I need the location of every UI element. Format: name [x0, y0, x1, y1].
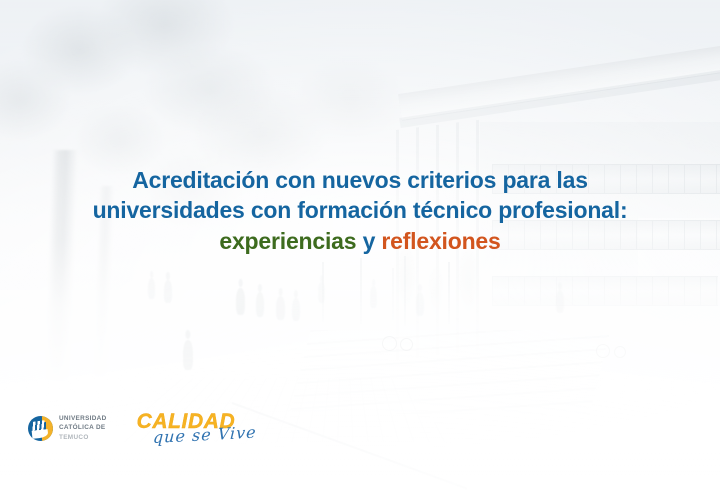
calidad-logo: CALIDAD que se Vive [137, 408, 257, 448]
footer-logo-group: Universidad Católica de Temuco CALIDAD q… [28, 408, 257, 448]
uct-emblem-icon [28, 416, 53, 441]
title-word-reflexiones: reflexiones [381, 228, 500, 254]
title-word-conjunction: y [363, 228, 376, 254]
uct-logo: Universidad Católica de Temuco [28, 414, 107, 441]
calidad-tagline: que se Vive [152, 423, 257, 448]
uct-wordmark-line-3: Temuco [59, 433, 107, 442]
title-line-1: Acreditación con nuevos criterios para l… [0, 166, 720, 196]
presentation-slide: Acreditación con nuevos criterios para l… [0, 0, 720, 500]
title-line-3: experiencias y reflexiones [0, 227, 720, 257]
title-word-experiencias: experiencias [219, 228, 356, 254]
uct-wordmark: Universidad Católica de Temuco [59, 414, 107, 441]
uct-swoosh [31, 429, 47, 438]
slide-title: Acreditación con nuevos criterios para l… [0, 166, 720, 257]
title-line-2: universidades con formación técnico prof… [0, 196, 720, 226]
uct-wordmark-line-2: Católica de [59, 423, 107, 432]
uct-wordmark-line-1: Universidad [59, 414, 107, 423]
